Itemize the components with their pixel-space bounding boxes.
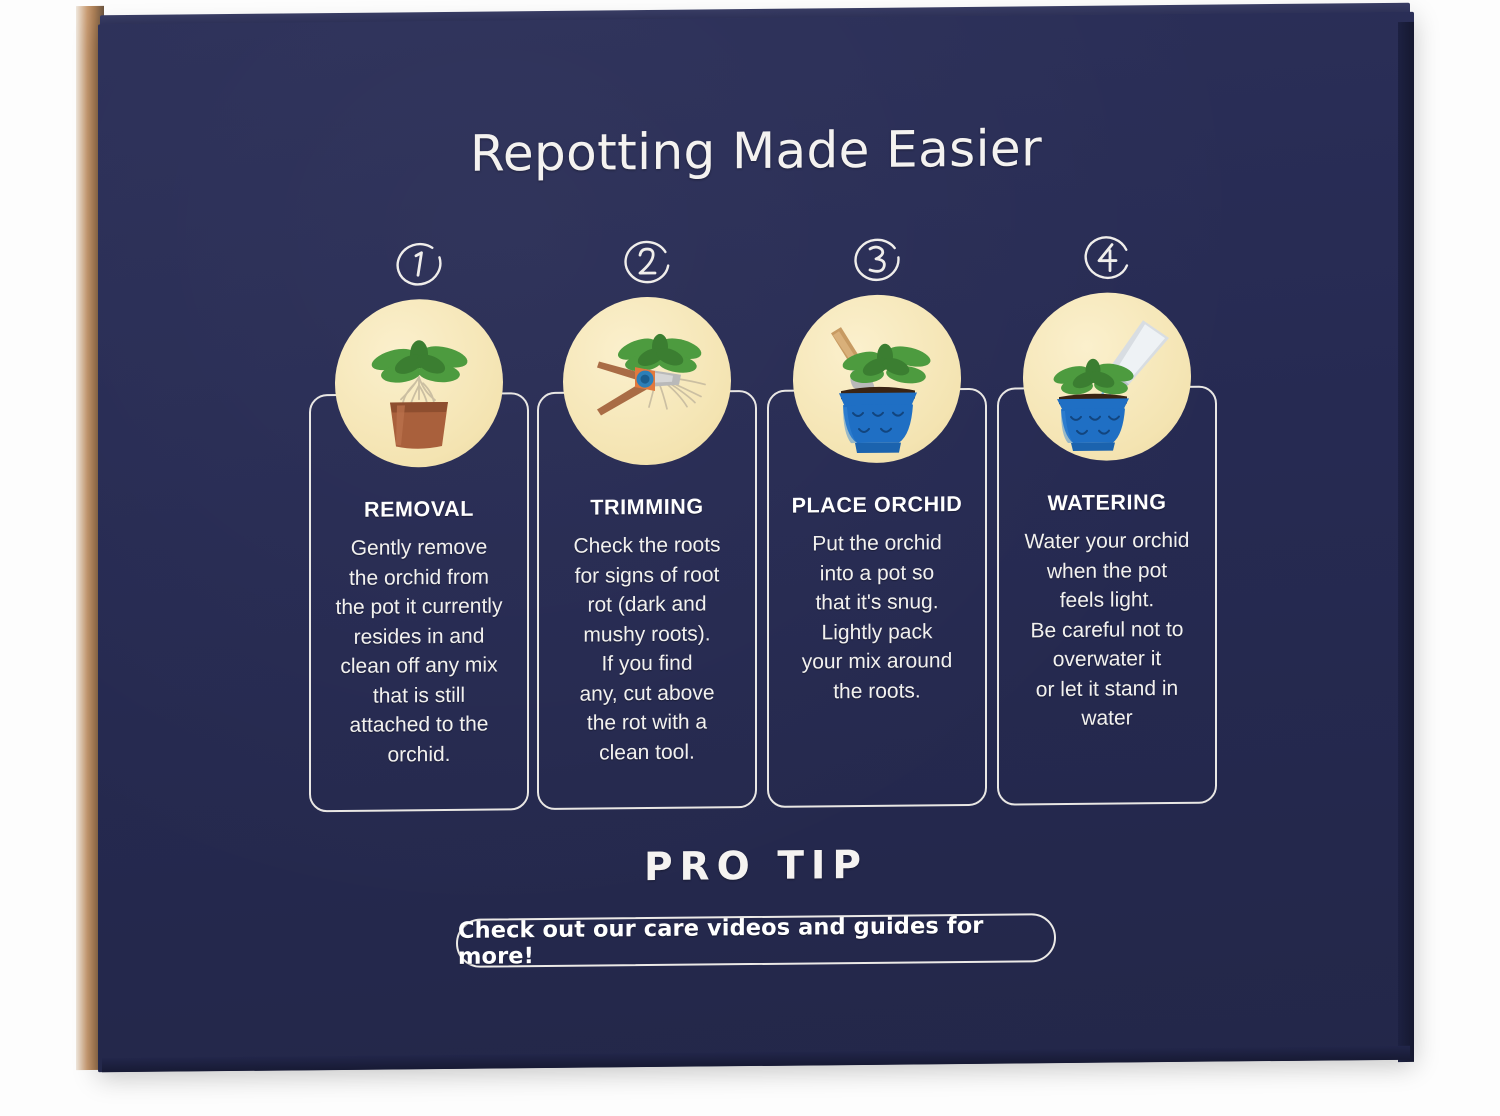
step-2: TRIMMING Check the roots for signs of ro… <box>534 18 760 810</box>
step-heading-4: WATERING <box>994 490 1220 517</box>
step-number-badge-2 <box>620 237 674 288</box>
pruning-shears-cutting-roots-icon <box>563 296 731 466</box>
step-body-2: Check the roots for signs of root rot (d… <box>540 530 754 768</box>
watering-can-over-blue-pot-icon <box>1023 292 1191 462</box>
step-body-4: Water your orchid when the pot feels lig… <box>1000 526 1214 735</box>
orchid-in-blue-pot-with-trowel-icon <box>793 294 961 464</box>
step-number-badge-4 <box>1080 232 1134 283</box>
pro-tip-label: PRO TIP <box>98 838 1414 896</box>
pro-tip-callout: Check out our care videos and guides for… <box>456 913 1056 968</box>
step-body-1: Gently remove the orchid from the pot it… <box>312 532 526 770</box>
step-heading-1: REMOVAL <box>306 496 532 523</box>
step-body-3: Put the orchid into a pot so that it's s… <box>770 528 984 707</box>
step-3: PLACE ORCHID Put the orchid into a pot s… <box>764 16 990 808</box>
orchid-in-terracotta-pot-icon <box>335 298 503 468</box>
steps-row: REMOVAL Gently remove the orchid from th… <box>98 12 1414 815</box>
step-4: WATERING Water your orchid when the pot … <box>994 14 1220 806</box>
step-number-badge-3 <box>850 235 904 286</box>
step-heading-2: TRIMMING <box>534 494 760 521</box>
step-number-badge-1 <box>392 239 446 290</box>
step-heading-3: PLACE ORCHID <box>764 492 990 519</box>
pro-tip-callout-text: Check out our care videos and guides for… <box>458 912 1054 970</box>
step-1: REMOVAL Gently remove the orchid from th… <box>306 20 532 812</box>
panel-content: Repotting Made Easier <box>98 12 1414 1073</box>
product-box-photo: Repotting Made Easier <box>0 0 1500 1116</box>
